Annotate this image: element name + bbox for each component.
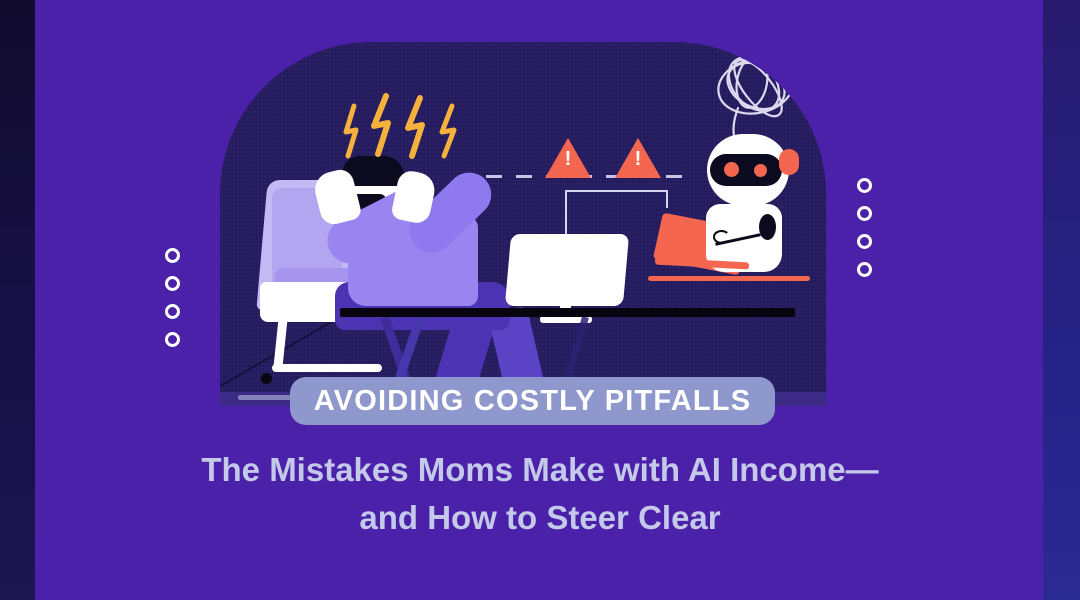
page-title-line-2: and How to Steer Clear <box>140 494 940 542</box>
monitor-cable-drop <box>666 190 668 208</box>
decorative-dot <box>165 276 180 291</box>
monitor-cable-horizontal <box>565 190 667 192</box>
page-title-line-1: The Mistakes Moms Make with AI Income— <box>140 446 940 494</box>
robot-eye <box>724 162 739 177</box>
floor-dot <box>261 373 272 384</box>
illustration-panel <box>220 42 826 406</box>
monitor-cable <box>565 190 567 236</box>
dot-column-left <box>165 248 180 347</box>
decorative-dot <box>165 332 180 347</box>
lightning-bolt-icon <box>320 92 510 172</box>
robot-antenna-scribble-icon <box>692 50 822 140</box>
warning-triangle-icon <box>545 138 591 178</box>
robot-desk-line <box>648 276 810 281</box>
robot-eye <box>754 164 767 177</box>
robot-hand <box>713 230 730 244</box>
eyebrow-badge-label: AVOIDING COSTLY PITFALLS <box>314 385 752 418</box>
decorative-dot <box>857 178 872 193</box>
robot-ear <box>779 149 799 175</box>
warning-triangle-icon <box>615 138 661 178</box>
decorative-dot <box>857 234 872 249</box>
decorative-dot <box>857 206 872 221</box>
decorative-dot <box>165 248 180 263</box>
desk-surface <box>340 308 795 317</box>
robot-body-detail <box>759 214 776 240</box>
dot-column-right <box>857 178 872 277</box>
dashed-connector-line <box>486 175 696 178</box>
eyebrow-badge: AVOIDING COSTLY PITFALLS <box>290 377 775 425</box>
decorative-dot <box>857 262 872 277</box>
page-title: The Mistakes Moms Make with AI Income— a… <box>140 446 940 542</box>
robot-visor <box>710 154 782 186</box>
left-edge-strip <box>0 0 35 600</box>
right-edge-strip <box>1043 0 1080 600</box>
poster-canvas: AVOIDING COSTLY PITFALLS The Mistakes Mo… <box>0 0 1080 600</box>
monitor-screen <box>505 234 629 306</box>
decorative-dot <box>165 304 180 319</box>
